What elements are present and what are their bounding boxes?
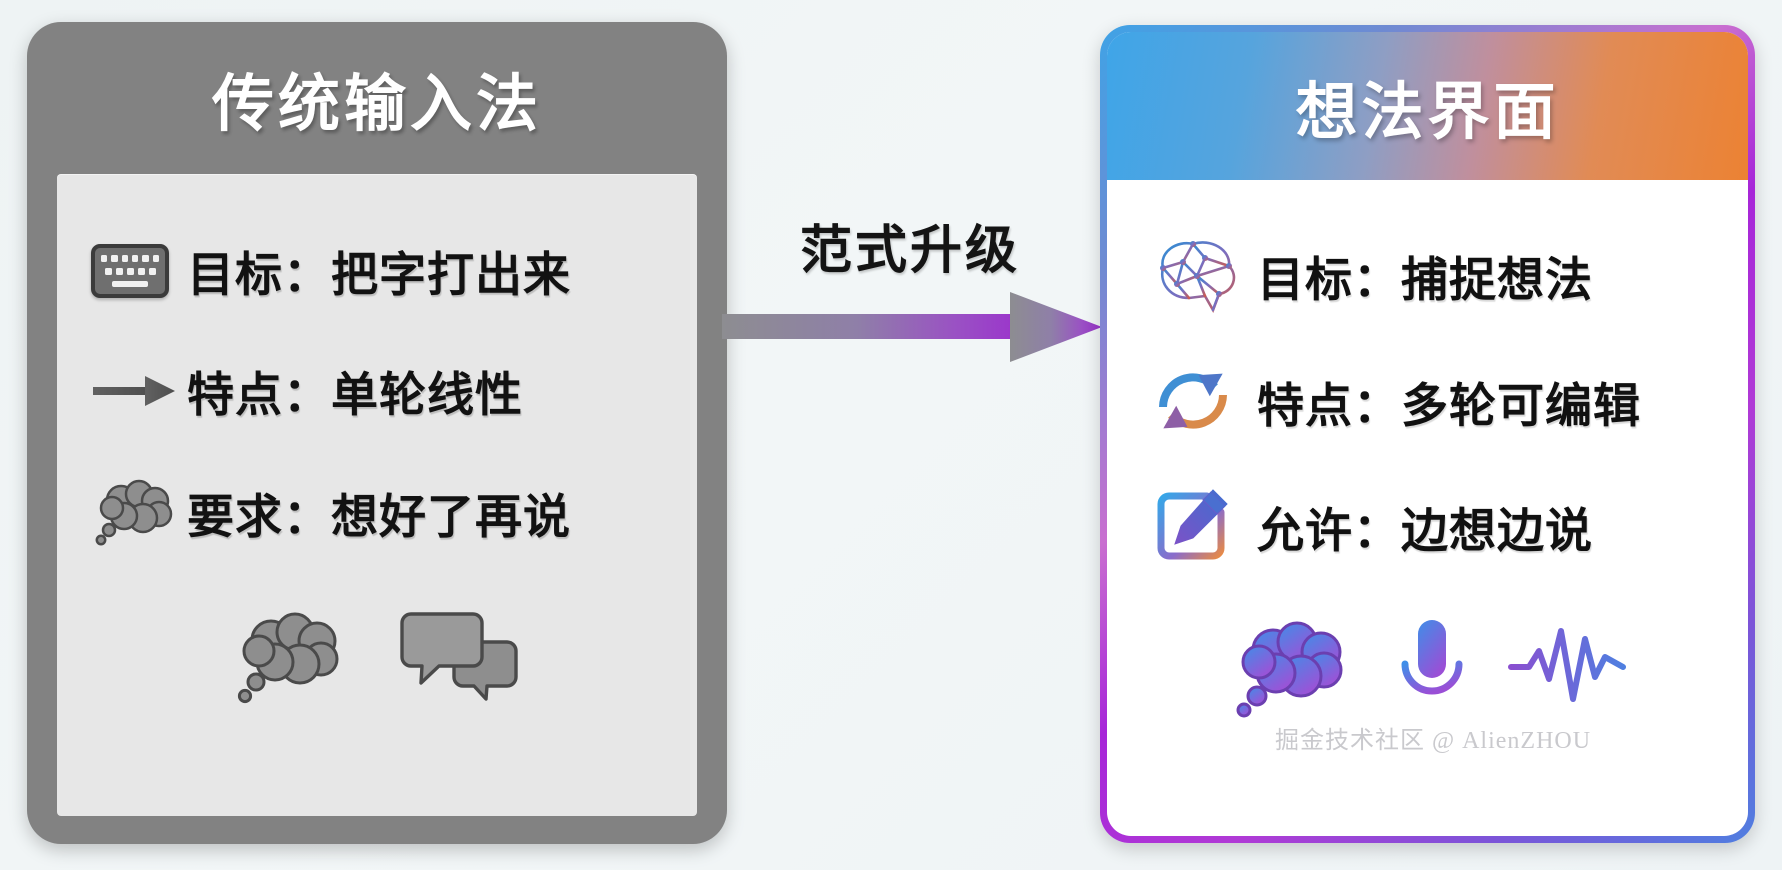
left-row-requirement: 要求：想好了再说 (91, 474, 571, 550)
right-card-title: 想法界面 (1295, 61, 1559, 151)
left-card-header: 传统输入法 (27, 22, 727, 174)
right-row-goal: 目标：捕捉想法 (1149, 232, 1593, 318)
right-card-header: 想法界面 (1107, 32, 1748, 180)
right-row-goal-label: 目标：捕捉想法 (1257, 241, 1593, 310)
right-row-feature: 特点：多轮可编辑 (1149, 357, 1641, 445)
left-row-goal-label: 目标：把字打出来 (187, 236, 571, 305)
waveform-icon (1507, 621, 1627, 716)
left-row-goal: 目标：把字打出来 (91, 236, 571, 305)
left-row-feature-label: 特点：单轮线性 (187, 356, 523, 425)
left-row-feature: 特点：单轮线性 (91, 356, 523, 425)
right-bottom-icon-row (1107, 612, 1748, 725)
arrow-label: 范式升级 (745, 208, 1075, 283)
keyboard-icon (91, 244, 187, 298)
edit-pencil-square-icon (1149, 482, 1257, 570)
speech-bubbles-icon (397, 606, 523, 711)
idea-interface-card: 想法界面 (1100, 25, 1755, 843)
right-row-allow-label: 允许：边想边说 (1257, 492, 1593, 561)
traditional-input-card: 传统输入法 目标：把字打出来 (27, 22, 727, 844)
right-row-feature-label: 特点：多轮可编辑 (1257, 367, 1641, 436)
sync-refresh-icon (1149, 357, 1257, 445)
diagram-canvas: 传统输入法 目标：把字打出来 (0, 0, 1782, 870)
microphone-icon (1391, 612, 1473, 725)
left-row-requirement-label: 要求：想好了再说 (187, 478, 571, 547)
watermark: 掘金技术社区 @ AlienZHOU (1275, 720, 1591, 755)
brain-network-icon (1149, 232, 1257, 318)
paradigm-upgrade-arrow (722, 290, 1104, 372)
thought-bubble-icon (91, 474, 187, 550)
thought-bubble-icon (1229, 612, 1357, 725)
left-card-body: 目标：把字打出来 特点：单轮线性 (57, 174, 697, 816)
left-card-title: 传统输入法 (212, 53, 542, 143)
right-row-allow: 允许：边想边说 (1149, 482, 1593, 570)
right-arrow-icon (91, 371, 187, 411)
thought-bubble-icon (231, 604, 351, 713)
left-bottom-icon-row (57, 604, 697, 713)
